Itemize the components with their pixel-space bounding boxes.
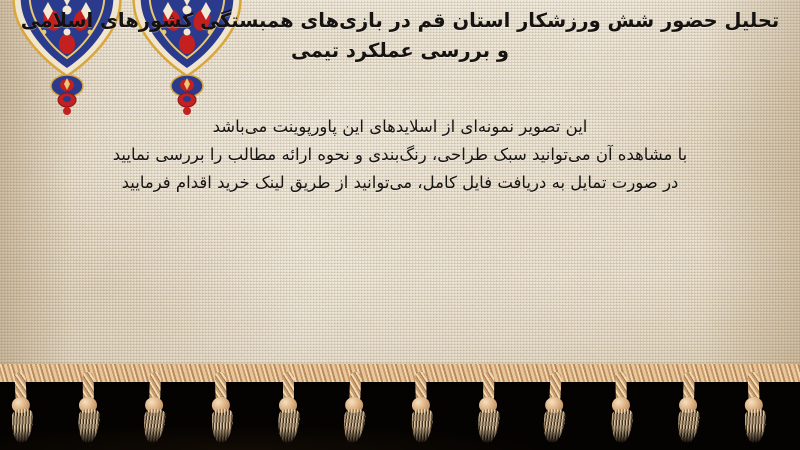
body-line-1: این تصویر نمونه‌ای از اسلایدهای این پاور… bbox=[0, 112, 800, 140]
body-line-3: در صورت تمایل به دریافت فایل کامل، می‌تو… bbox=[0, 169, 800, 197]
fringe-tassel bbox=[140, 372, 168, 447]
tassel-skirt bbox=[77, 409, 100, 443]
slide-text-layer: تحلیل حضور شش ورزشکار استان قم در بازی‌ه… bbox=[0, 0, 800, 382]
tassel-skirt bbox=[610, 409, 633, 443]
tassel-skirt bbox=[11, 408, 33, 443]
tassel-skirt bbox=[745, 408, 767, 443]
presentation-slide: تحلیل حضور شش ورزشکار استان قم در بازی‌ه… bbox=[0, 0, 800, 450]
fringe-tassel bbox=[74, 372, 101, 446]
tassel-skirt bbox=[542, 409, 567, 444]
tassel-skirt bbox=[476, 409, 500, 443]
tassel-skirt bbox=[411, 409, 433, 444]
fringe-tassel bbox=[407, 372, 435, 447]
tassel-skirt bbox=[142, 409, 166, 443]
fringe-tassel bbox=[474, 372, 501, 446]
tassel-skirt bbox=[211, 409, 233, 444]
slide-title: تحلیل حضور شش ورزشکار استان قم در بازی‌ه… bbox=[14, 6, 786, 65]
fringe-tassel bbox=[207, 372, 236, 447]
fringe-tassel bbox=[540, 371, 569, 446]
body-line-2: با مشاهده آن می‌توانید سبک طراحی، رنگ‌بن… bbox=[0, 140, 800, 168]
tassel-skirt bbox=[676, 409, 700, 443]
fringe-tassel bbox=[275, 372, 301, 446]
fringe-tassel bbox=[740, 371, 769, 446]
slide-body: این تصویر نمونه‌ای از اسلایدهای این پاور… bbox=[0, 112, 800, 197]
tassel-skirt bbox=[276, 409, 299, 443]
fringe-tassel bbox=[674, 372, 701, 446]
fringe-tassel bbox=[340, 372, 369, 447]
fringe-tassel bbox=[607, 372, 634, 446]
fringe-tassel bbox=[6, 371, 35, 446]
tassel-skirt bbox=[342, 409, 367, 444]
carpet-fringe-tassels bbox=[0, 370, 800, 450]
